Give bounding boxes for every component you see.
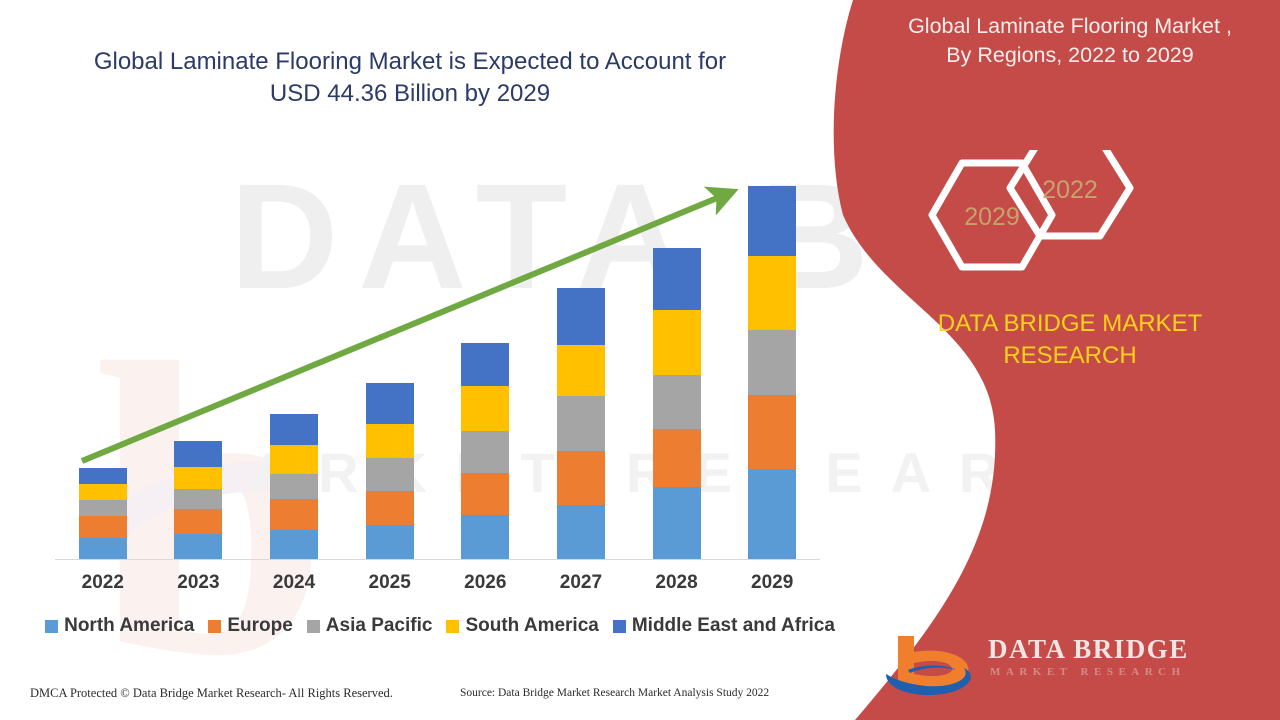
bar-segment-2023-asia-pacific[interactable] [174, 489, 222, 509]
bar-segment-2025-middle-east-and-africa[interactable] [366, 383, 414, 424]
bar-segment-2027-north-america[interactable] [557, 505, 605, 559]
page-title-line-1: Global Laminate Flooring Market is Expec… [94, 48, 726, 75]
copyright-notice: DMCA Protected © Data Bridge Market Rese… [30, 686, 393, 701]
bar-2026[interactable] [461, 343, 509, 559]
legend-swatch-icon [208, 620, 221, 633]
bar-2024[interactable] [270, 414, 318, 559]
bar-segment-2026-south-america[interactable] [461, 386, 509, 431]
bar-segment-2024-north-america[interactable] [270, 530, 318, 559]
infographic-canvas: b DATA BRIDGE MARKET RESEARCH Global Lam… [0, 0, 1280, 720]
bar-segment-2029-middle-east-and-africa[interactable] [748, 186, 796, 256]
legend-label: Europe [227, 615, 292, 637]
x-tick-2024: 2024 [270, 572, 318, 594]
bar-segment-2025-south-america[interactable] [366, 424, 414, 459]
bar-segment-2028-north-america[interactable] [653, 487, 701, 559]
bar-segment-2022-asia-pacific[interactable] [79, 500, 127, 516]
page-title-line-2: USD 44.36 Billion by 2029 [270, 80, 550, 107]
legend-swatch-icon [613, 620, 626, 633]
bar-segment-2026-europe[interactable] [461, 473, 509, 516]
x-tick-2026: 2026 [461, 572, 509, 594]
bar-2029[interactable] [748, 186, 796, 559]
source-note: Source: Data Bridge Market Research Mark… [460, 687, 769, 699]
bar-segment-2027-south-america[interactable] [557, 345, 605, 397]
bar-segment-2026-north-america[interactable] [461, 515, 509, 559]
legend-item-middle-east-and-africa[interactable]: Middle East and Africa [613, 615, 835, 637]
bar-2025[interactable] [366, 383, 414, 559]
bar-segment-2025-asia-pacific[interactable] [366, 458, 414, 491]
bar-segment-2027-middle-east-and-africa[interactable] [557, 288, 605, 345]
x-tick-2022: 2022 [79, 572, 127, 594]
logo-wordmark: DATA BRIDGE [988, 634, 1189, 665]
bar-2027[interactable] [557, 288, 605, 559]
legend-swatch-icon [45, 620, 58, 633]
hexagon-label-2022: 2022 [1042, 176, 1098, 204]
logo-tagline: MARKET RESEARCH [990, 666, 1186, 678]
legend-label: South America [465, 615, 598, 637]
bar-segment-2028-middle-east-and-africa[interactable] [653, 248, 701, 310]
legend-item-asia-pacific[interactable]: Asia Pacific [307, 615, 433, 637]
chart-panel: Global Laminate Flooring Market is Expec… [0, 0, 860, 720]
bar-segment-2023-north-america[interactable] [174, 534, 222, 559]
bar-segment-2024-asia-pacific[interactable] [270, 474, 318, 499]
bar-segment-2022-middle-east-and-africa[interactable] [79, 468, 127, 484]
panel-title: Global Laminate Flooring Market , By Reg… [860, 12, 1280, 70]
bar-segment-2023-middle-east-and-africa[interactable] [174, 441, 222, 466]
bar-segment-2027-europe[interactable] [557, 451, 605, 505]
x-tick-2025: 2025 [366, 572, 414, 594]
bar-2028[interactable] [653, 248, 701, 559]
legend-item-europe[interactable]: Europe [208, 615, 292, 637]
bar-segment-2026-asia-pacific[interactable] [461, 431, 509, 473]
bar-segment-2028-asia-pacific[interactable] [653, 375, 701, 429]
panel-title-line-2: By Regions, 2022 to 2029 [860, 41, 1280, 70]
legend-item-north-america[interactable]: North America [45, 615, 194, 637]
page-title: Global Laminate Flooring Market is Expec… [40, 46, 780, 111]
company-logo: DATA BRIDGE MARKET RESEARCH [880, 630, 1260, 700]
bar-segment-2025-europe[interactable] [366, 491, 414, 526]
bar-2022[interactable] [79, 468, 127, 559]
bar-segment-2023-south-america[interactable] [174, 467, 222, 489]
legend-label: Asia Pacific [326, 615, 433, 637]
bar-segment-2028-europe[interactable] [653, 429, 701, 487]
chart-legend: North AmericaEuropeAsia PacificSouth Ame… [55, 615, 825, 637]
brand-name-line-2: RESEARCH [1003, 342, 1136, 369]
x-axis-tick-labels: 20222023202420252026202720282029 [55, 572, 820, 594]
legend-label: North America [64, 615, 194, 637]
legend-label: Middle East and Africa [632, 615, 835, 637]
chart-x-axis [55, 559, 820, 560]
bar-segment-2027-asia-pacific[interactable] [557, 396, 605, 451]
bar-segment-2025-north-america[interactable] [366, 525, 414, 559]
bar-segment-2022-europe[interactable] [79, 516, 127, 537]
panel-title-line-1: Global Laminate Flooring Market , [860, 12, 1280, 41]
hexagon-label-2029: 2029 [964, 203, 1020, 231]
bar-segment-2022-north-america[interactable] [79, 538, 127, 559]
x-tick-2028: 2028 [653, 572, 701, 594]
stacked-bar-series [55, 150, 820, 559]
bar-segment-2024-europe[interactable] [270, 499, 318, 529]
legend-swatch-icon [446, 620, 459, 633]
bar-segment-2029-asia-pacific[interactable] [748, 330, 796, 395]
x-tick-2027: 2027 [557, 572, 605, 594]
hexagon-year-badges: 2029 2022 [840, 150, 1280, 295]
bar-segment-2022-south-america[interactable] [79, 484, 127, 500]
legend-item-south-america[interactable]: South America [446, 615, 598, 637]
bar-segment-2024-south-america[interactable] [270, 445, 318, 473]
bar-2023[interactable] [174, 441, 222, 559]
legend-swatch-icon [307, 620, 320, 633]
x-tick-2023: 2023 [174, 572, 222, 594]
bar-segment-2029-south-america[interactable] [748, 256, 796, 330]
bar-segment-2029-north-america[interactable] [748, 469, 796, 559]
bar-segment-2026-middle-east-and-africa[interactable] [461, 343, 509, 387]
x-tick-2029: 2029 [748, 572, 796, 594]
brand-name: DATA BRIDGE MARKET RESEARCH [860, 308, 1280, 373]
bar-segment-2029-europe[interactable] [748, 395, 796, 468]
brand-name-line-1: DATA BRIDGE MARKET [938, 310, 1202, 337]
bar-segment-2024-middle-east-and-africa[interactable] [270, 414, 318, 446]
bar-segment-2028-south-america[interactable] [653, 310, 701, 375]
bar-segment-2023-europe[interactable] [174, 509, 222, 533]
